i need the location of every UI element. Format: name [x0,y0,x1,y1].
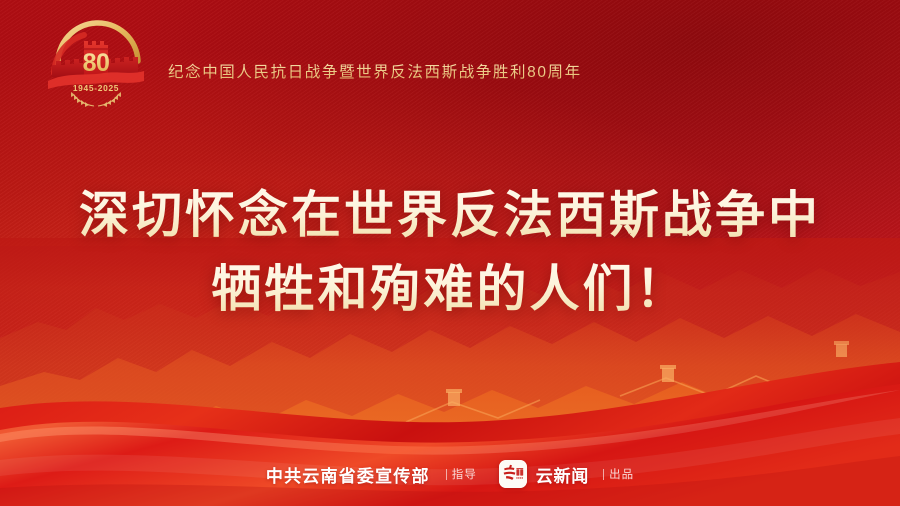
emblem-number-80: 80 [83,49,110,77]
footer-credits: 中共云南省委宣传部 指导 [0,460,900,488]
separator-bar-icon-2 [603,469,604,480]
guide-role-label: 指导 [452,466,477,482]
yun-news-logo-icon [499,460,527,488]
commemoration-poster: 80 1945-2025 纪念中国人民抗日战争暨世界反法西斯战 [0,0,900,506]
producer-name: 云新闻 [536,462,589,487]
anniversary-80-emblem-icon: 80 1945-2025 [44,15,148,107]
poster-header: 80 1945-2025 纪念中国人民抗日战争暨世界反法西斯战 [44,26,582,96]
separator-bar-icon [446,469,447,480]
producer-role-group: 出品 [603,466,634,482]
headline-line-1: 深切怀念在世界反法西斯战争中 [0,178,900,252]
guide-organization: 中共云南省委宣传部 [266,462,430,487]
headline-block: 深切怀念在世界反法西斯战争中 牺牲和殉难的人们！ [0,178,900,326]
producer-role-label: 出品 [609,466,634,482]
emblem-year-range: 1945-2025 [73,83,119,93]
headline-line-2: 牺牲和殉难的人们！ [0,252,900,326]
header-title: 纪念中国人民抗日战争暨世界反法西斯战争胜利80周年 [168,60,582,82]
guide-role-group: 指导 [446,466,477,482]
